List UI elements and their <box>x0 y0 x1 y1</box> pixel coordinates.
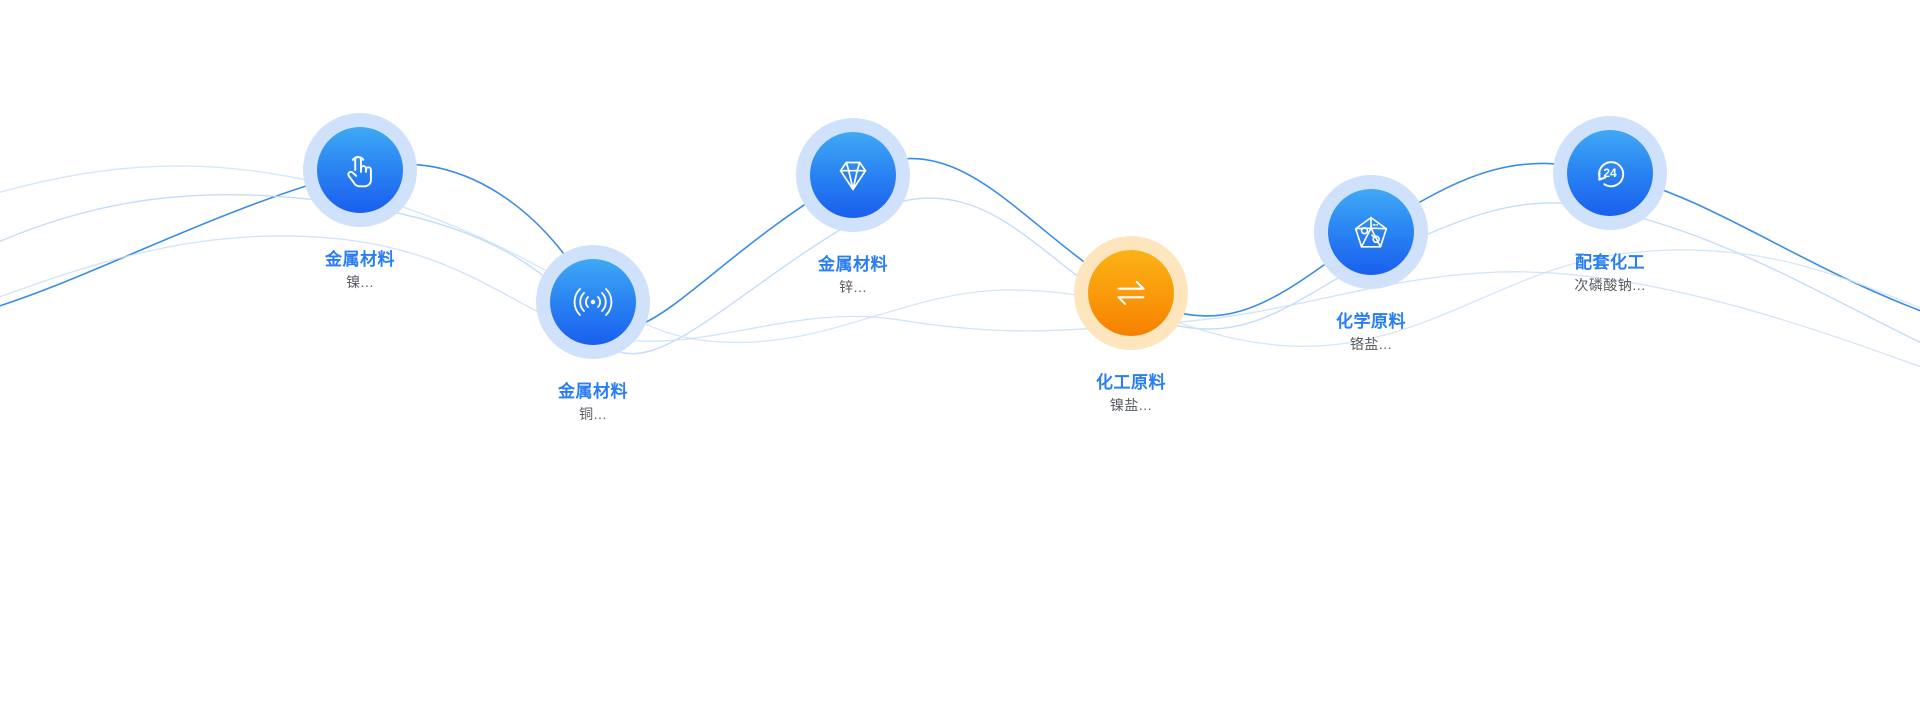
node-subtitle: 锌... <box>839 277 867 297</box>
node-icon-button[interactable] <box>550 259 636 345</box>
exchange-arrows-icon <box>1108 270 1154 316</box>
node-title[interactable]: 化学原料 <box>1336 307 1406 332</box>
node-subtitle: 次磷酸钠... <box>1574 275 1645 295</box>
diamond-icon <box>830 152 876 198</box>
node-title[interactable]: 金属材料 <box>325 245 395 270</box>
svg-text:24: 24 <box>1603 166 1617 180</box>
node-icon-button[interactable] <box>1328 189 1414 275</box>
hand-tap-icon <box>337 147 383 193</box>
node-icon-button[interactable]: 24 <box>1567 130 1653 216</box>
node-title[interactable]: 金属材料 <box>558 377 628 402</box>
node-icon-button[interactable] <box>1088 250 1174 336</box>
node-icon-button[interactable] <box>810 132 896 218</box>
twentyfour-hour-icon: 24 <box>1587 150 1633 196</box>
node-subtitle: 铜... <box>579 404 607 424</box>
signal-waves-icon <box>570 279 616 325</box>
supply-chain-wave-canvas: 金属材料镍... 金属材料铜... 金属材料锌... 化工原料镍盐... <box>0 0 1920 718</box>
wave-lines-layer <box>0 0 1920 718</box>
node-title[interactable]: 金属材料 <box>818 250 888 275</box>
node-icon-button[interactable] <box>317 127 403 213</box>
node-title[interactable]: 配套化工 <box>1575 248 1645 273</box>
pentagon-molecule-icon <box>1348 209 1394 255</box>
node-subtitle: 镍... <box>346 272 374 292</box>
node-subtitle: 镍盐... <box>1110 395 1152 415</box>
node-subtitle: 铬盐... <box>1350 334 1392 354</box>
node-title[interactable]: 化工原料 <box>1096 368 1166 393</box>
